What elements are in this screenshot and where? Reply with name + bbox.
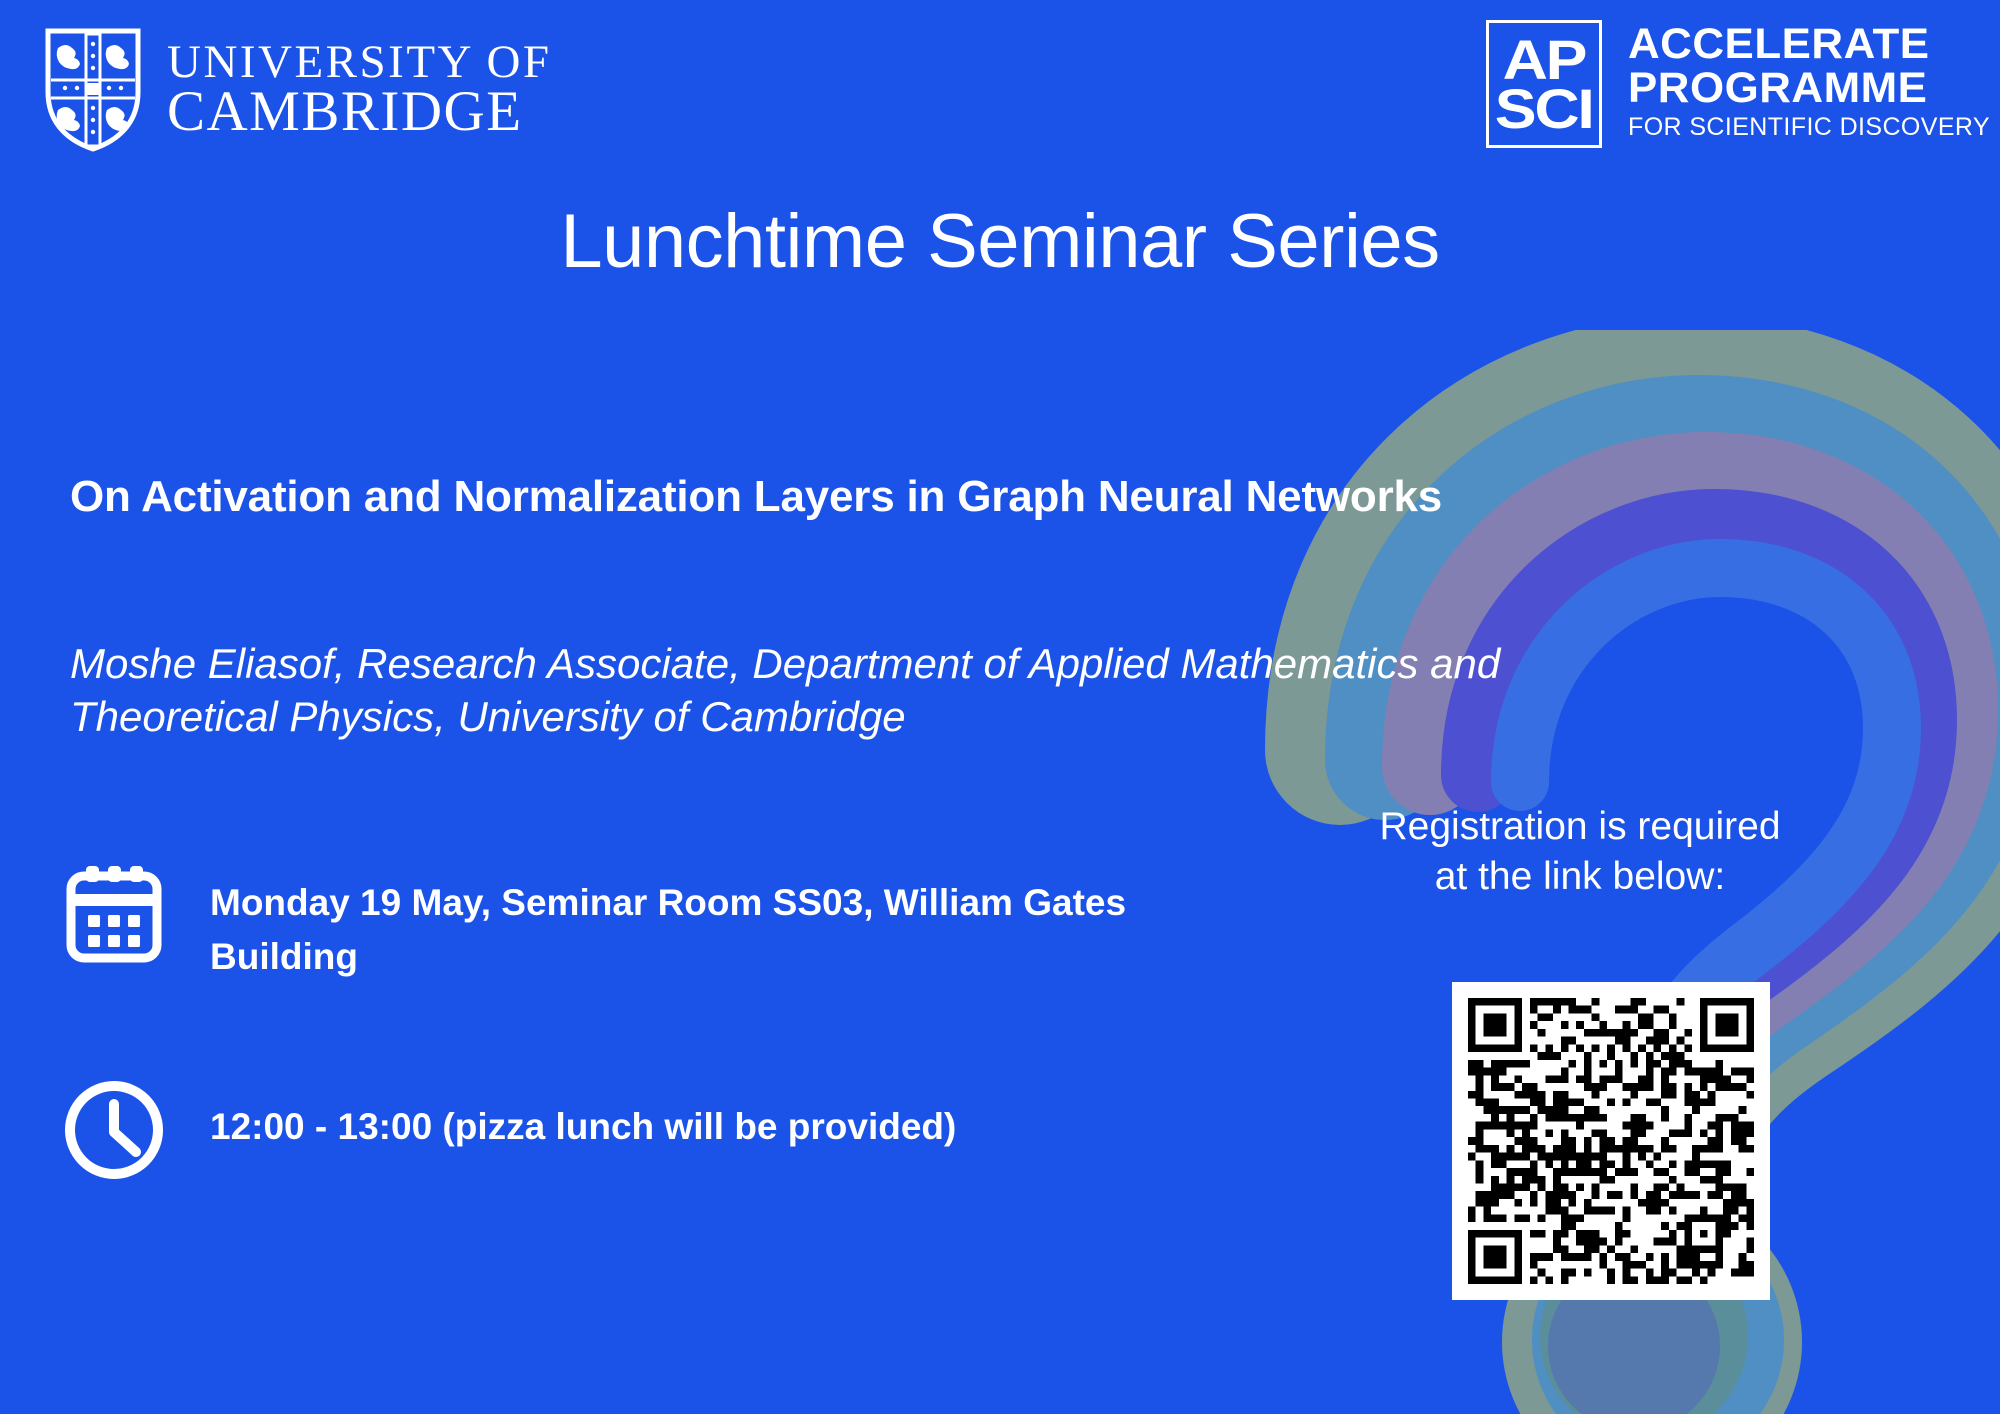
clock-icon (62, 1078, 166, 1182)
series-title: Lunchtime Seminar Series (0, 198, 2000, 285)
cambridge-logo: UNIVERSITY OF CAMBRIDGE (45, 28, 552, 152)
apsci-word-line1: ACCELERATE (1628, 22, 1997, 66)
qr-code-icon[interactable] (1452, 982, 1770, 1300)
cambridge-shield-icon (45, 28, 141, 152)
registration-note-line1: Registration is required (1330, 802, 1830, 852)
apsci-word-line2: PROGRAMME (1628, 66, 1997, 110)
cambridge-wordmark-line1: UNIVERSITY OF (167, 40, 552, 85)
detail-row-time: 12:00 - 13:00 (pizza lunch will be provi… (62, 1078, 1210, 1182)
speaker-line: Moshe Eliasof, Research Associate, Depar… (70, 638, 1570, 744)
seminar-poster: UNIVERSITY OF CAMBRIDGE AP SCI ACCELERAT… (0, 0, 2000, 1414)
cambridge-wordmark-line2: CAMBRIDGE (167, 85, 552, 140)
qr-code-canvas (1468, 998, 1754, 1284)
apsci-mark: AP SCI (1486, 20, 1602, 148)
detail-text-time: 12:00 - 13:00 (pizza lunch will be provi… (210, 1078, 1210, 1154)
apsci-logo: AP SCI ACCELERATE PROGRAMME FOR SCIENTIF… (1486, 20, 1990, 148)
cambridge-wordmark: UNIVERSITY OF CAMBRIDGE (167, 40, 552, 140)
apsci-mark-line2: SCI (1495, 84, 1593, 133)
talk-title: On Activation and Normalization Layers i… (70, 472, 1550, 522)
registration-note: Registration is required at the link bel… (1330, 802, 1830, 901)
registration-note-line2: at the link below: (1330, 852, 1830, 902)
calendar-icon (62, 862, 166, 966)
apsci-word-line3: FOR SCIENTIFIC DISCOVERY (1628, 111, 1990, 142)
apsci-wordmark: ACCELERATE PROGRAMME FOR SCIENTIFIC DISC… (1628, 20, 1990, 142)
detail-text-date: Monday 19 May, Seminar Room SS03, Willia… (210, 862, 1210, 983)
detail-row-date: Monday 19 May, Seminar Room SS03, Willia… (62, 862, 1210, 983)
